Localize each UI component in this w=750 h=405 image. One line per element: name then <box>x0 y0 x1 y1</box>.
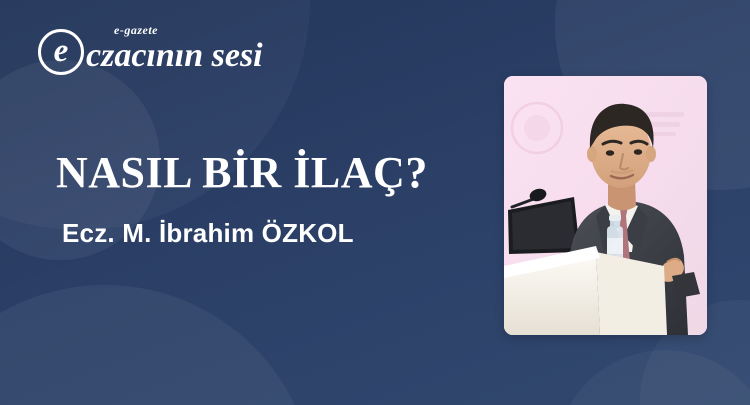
article-byline: Ecz. M. İbrahim ÖZKOL <box>62 218 476 249</box>
logo-e-mark-icon: e <box>38 29 84 75</box>
site-logo[interactable]: e e-gazete czacının sesi <box>38 22 78 82</box>
decorative-circle-bottom-left <box>0 285 315 405</box>
speaker-photo-illustration <box>504 76 707 335</box>
logo-wordmark: czacının sesi <box>86 37 263 75</box>
article-title: NASIL BİR İLAÇ? <box>56 150 476 196</box>
article-banner: e e-gazete czacının sesi NASIL BİR İLAÇ?… <box>0 0 750 405</box>
decorative-circle-bottom-right-1 <box>555 350 750 405</box>
logo-mark-letter: e <box>38 29 84 75</box>
headline-block: NASIL BİR İLAÇ? Ecz. M. İbrahim ÖZKOL <box>56 150 476 249</box>
speaker-photo <box>504 76 707 335</box>
logo-kicker: e-gazete <box>114 23 158 38</box>
